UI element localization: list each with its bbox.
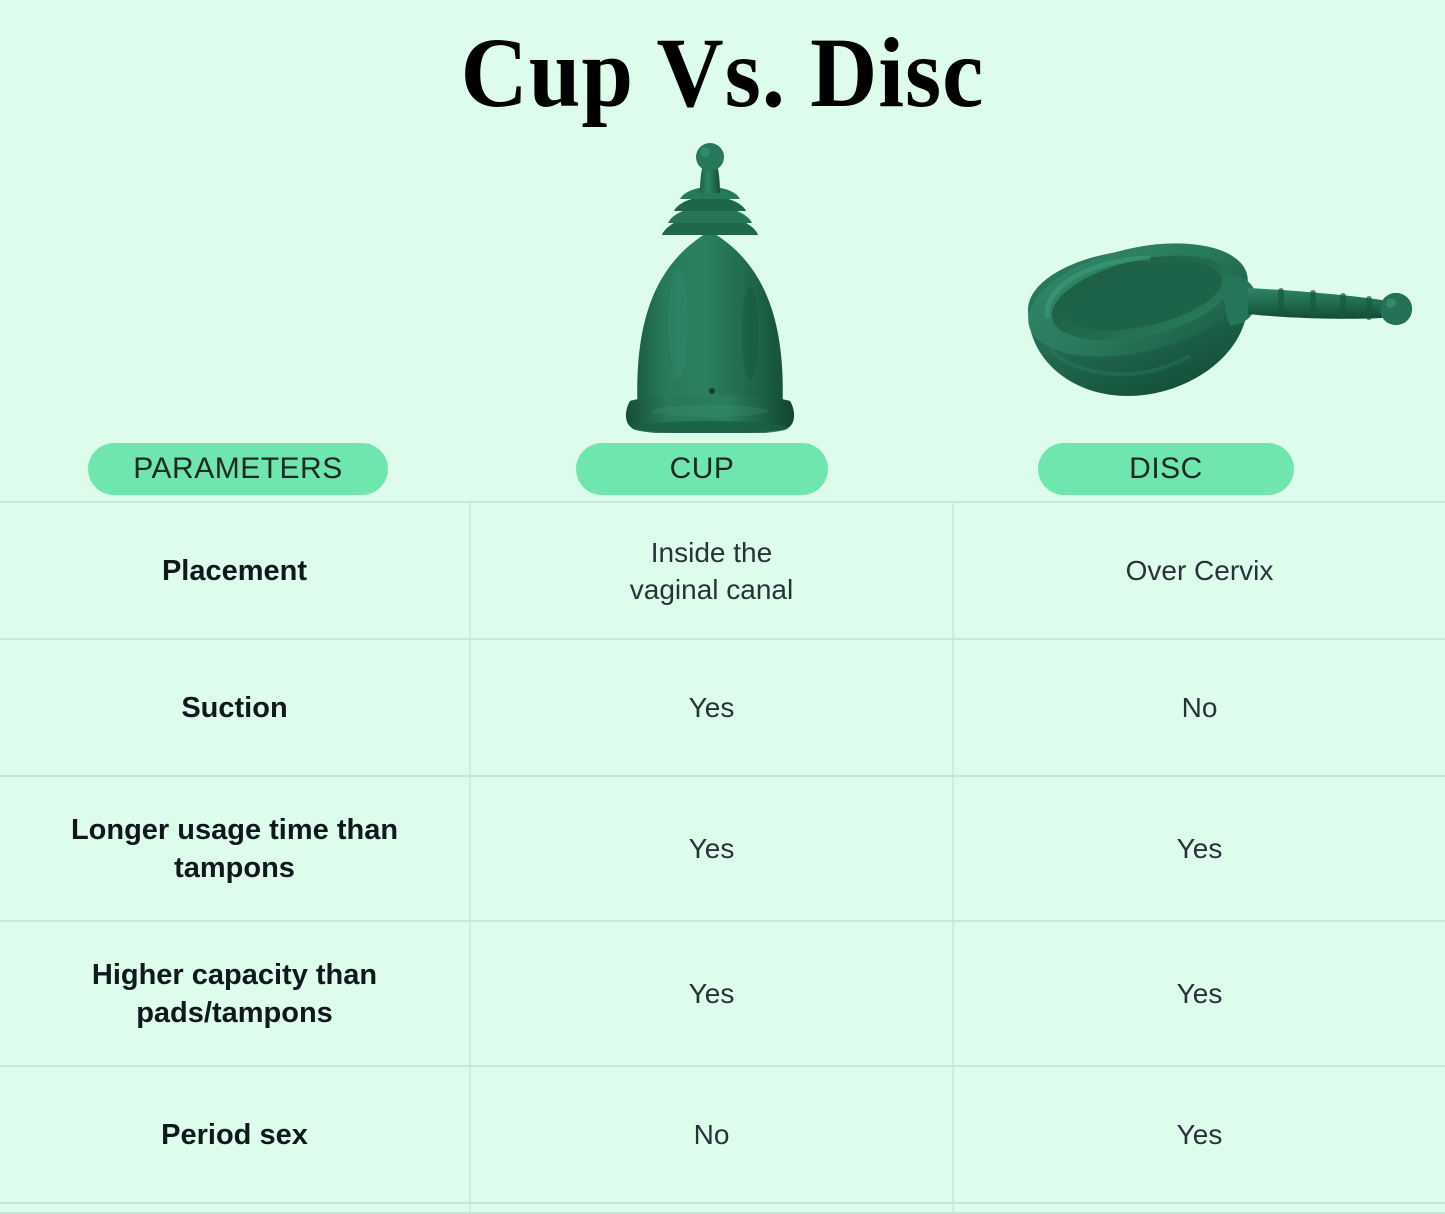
- column-header-cup[interactable]: CUP: [576, 443, 828, 495]
- column-header-disc-label: DISC: [1129, 452, 1203, 486]
- cup-value-cell-empty: [469, 1204, 952, 1212]
- cup-value-line-1: Inside the: [651, 537, 772, 568]
- cup-value-cell: Yes: [469, 777, 952, 920]
- table-row: Higher capacity than pads/tampons Yes Ye…: [0, 922, 1445, 1067]
- parameter-cell: Period sex: [0, 1067, 469, 1202]
- table-row: Placement Inside the vaginal canal Over …: [0, 503, 1445, 640]
- column-header-cup-label: CUP: [670, 452, 735, 486]
- parameter-line-2: tampons: [174, 852, 295, 884]
- disc-value-cell: Yes: [952, 777, 1445, 920]
- table-row: Longer usage time than tampons Yes Yes: [0, 777, 1445, 922]
- product-illustrations: [0, 0, 1445, 440]
- parameter-line-1: Longer usage time than: [71, 814, 398, 846]
- parameter-cell: Longer usage time than tampons: [0, 777, 469, 920]
- comparison-table: Placement Inside the vaginal canal Over …: [0, 501, 1445, 1214]
- disc-value-cell-empty: [952, 1204, 1445, 1212]
- column-header-parameters-label: PARAMETERS: [133, 452, 342, 486]
- cup-value-line-2: vaginal canal: [630, 574, 793, 605]
- cup-value-cell: No: [469, 1067, 952, 1202]
- parameter-cell-empty: [0, 1204, 469, 1212]
- parameter-text: Longer usage time than tampons: [71, 811, 398, 887]
- column-header-disc[interactable]: DISC: [1038, 443, 1294, 495]
- comparison-infographic: Cup Vs. Disc: [0, 0, 1445, 1184]
- cup-value-cell: Yes: [469, 922, 952, 1065]
- parameter-cell: Suction: [0, 640, 469, 775]
- cup-value-text: Inside the vaginal canal: [630, 534, 793, 608]
- parameter-line-2: pads/tampons: [136, 997, 333, 1029]
- disc-value-cell: Yes: [952, 922, 1445, 1065]
- menstrual-disc-icon: [1010, 238, 1430, 398]
- cup-value-cell: Yes: [469, 640, 952, 775]
- disc-value-cell: Over Cervix: [952, 503, 1445, 638]
- menstrual-cup-icon: [600, 143, 820, 433]
- cup-value-cell: Inside the vaginal canal: [469, 503, 952, 638]
- disc-value-cell: Yes: [952, 1067, 1445, 1202]
- parameter-line-1: Higher capacity than: [92, 959, 377, 991]
- table-row: Period sex No Yes: [0, 1067, 1445, 1204]
- parameter-cell: Placement: [0, 503, 469, 638]
- table-row-partial: [0, 1204, 1445, 1214]
- parameter-text: Higher capacity than pads/tampons: [92, 956, 377, 1032]
- table-row: Suction Yes No: [0, 640, 1445, 777]
- column-header-parameters[interactable]: PARAMETERS: [88, 443, 388, 495]
- parameter-cell: Higher capacity than pads/tampons: [0, 922, 469, 1065]
- disc-value-cell: No: [952, 640, 1445, 775]
- table-header-pills: PARAMETERS CUP DISC: [0, 443, 1445, 501]
